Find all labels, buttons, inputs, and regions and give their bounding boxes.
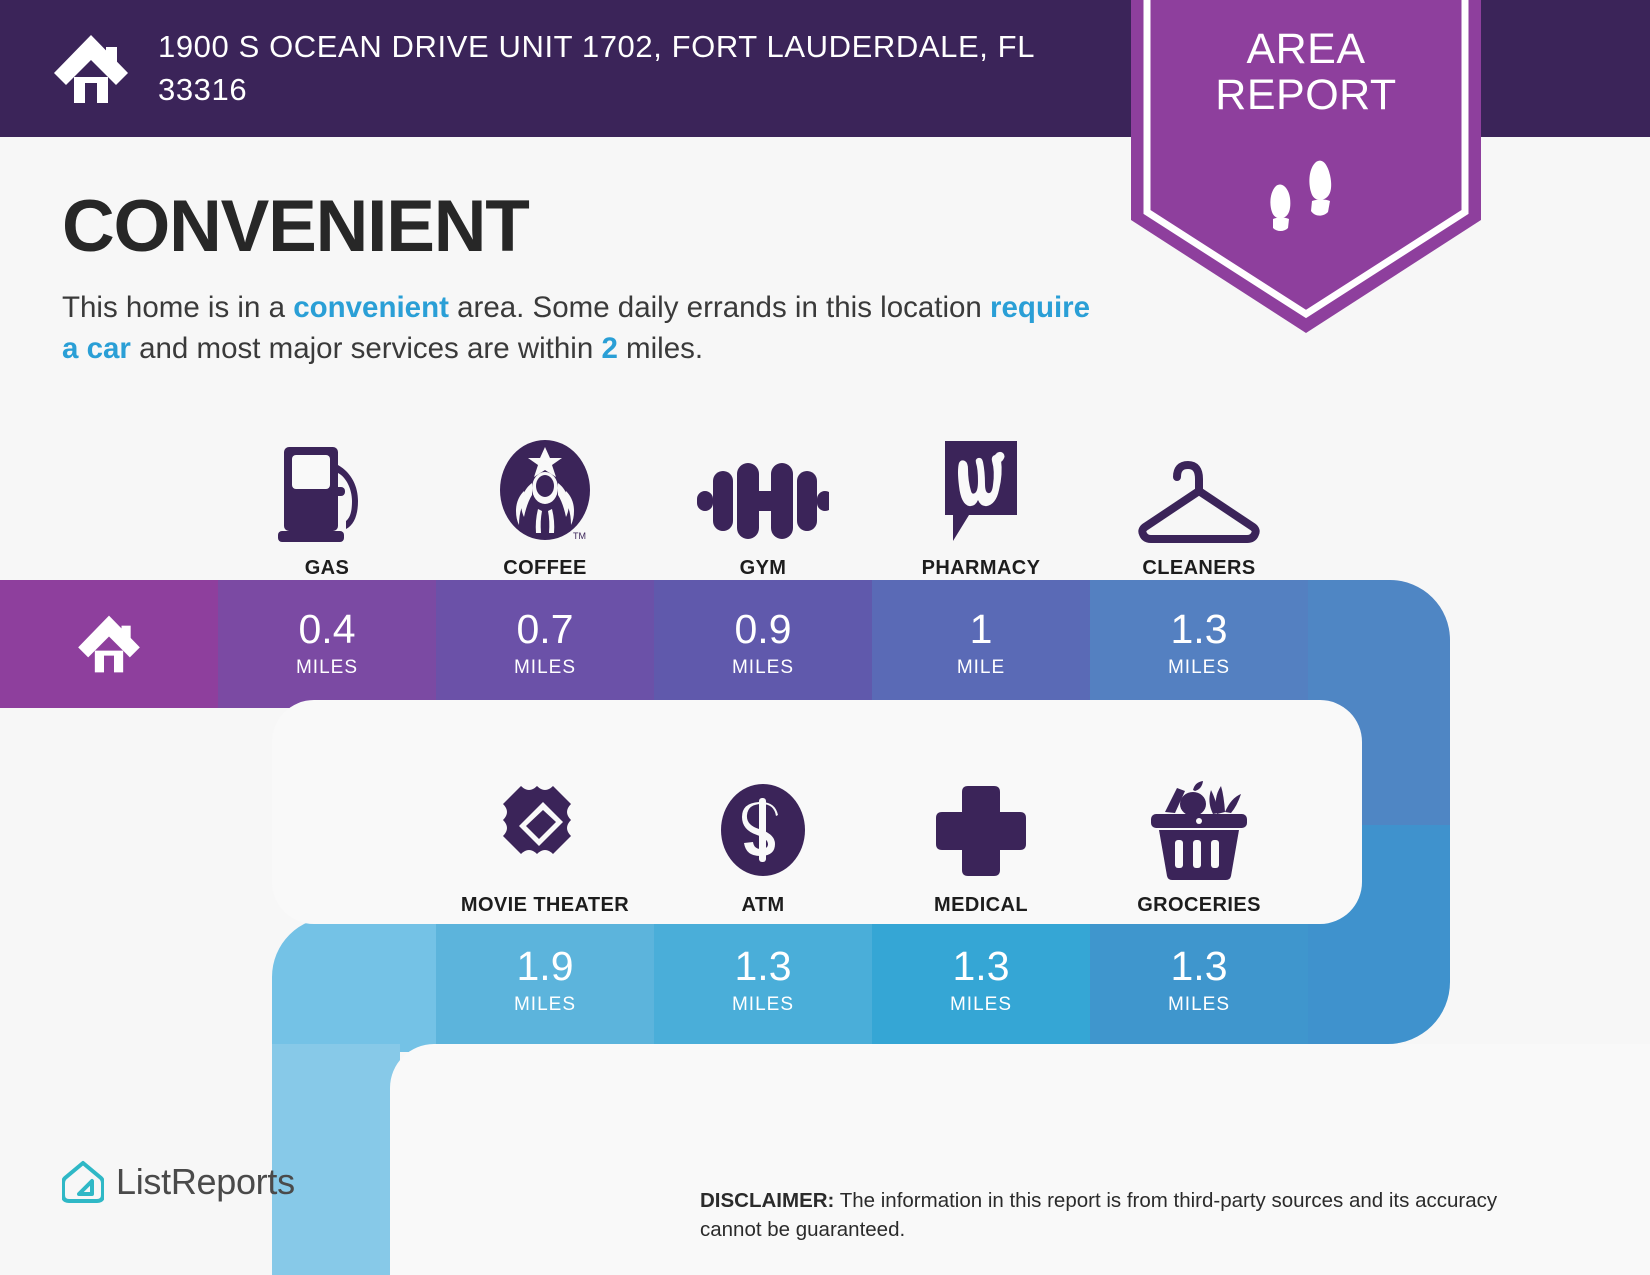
distance-cell-movie-theater: 1.9 MILES [436,917,654,1045]
amenity-gym: GYM [654,415,872,580]
amenity-label: GAS [305,557,350,580]
distance-spacer [272,917,436,1045]
distance-unit: MILES [296,657,358,679]
distance-cell-gym: 0.9 MILES [654,580,872,708]
distance-unit: MILES [514,994,576,1016]
distance-unit: MILES [732,994,794,1016]
disclaimer: DISCLAIMER: The information in this repo… [700,1186,1510,1244]
badge-title: AREA REPORT [1131,26,1481,119]
distance-cell-atm: 1.3 MILES [654,917,872,1045]
distance-unit: MILES [514,657,576,679]
badge-line-2: REPORT [1131,72,1481,118]
distance-cell-medical: 1.3 MILES [872,917,1090,1045]
amenity-movie-theater: MOVIE THEATER [436,752,654,917]
amenity-label: PHARMACY [922,557,1041,580]
hanger-icon [1135,435,1263,543]
dollar-circle-icon [714,772,812,880]
distance-value: 1.3 [735,946,792,987]
distance-unit: MILES [950,994,1012,1016]
home-marker-cell [0,580,218,708]
distance-value: 1.3 [1171,946,1228,987]
listreports-house-icon [62,1160,104,1204]
distance-unit: MILES [1168,657,1230,679]
amenity-label: MEDICAL [934,894,1028,917]
property-address: 1900 S OCEAN DRIVE UNIT 1702, FORT LAUDE… [158,26,1068,110]
listreports-logo: ListReports [62,1160,295,1204]
amenity-label: ATM [741,894,784,917]
home-icon [52,33,130,105]
amenity-cleaners: CLEANERS [1090,415,1308,580]
disclaimer-label: DISCLAIMER: [700,1189,834,1212]
distance-value: 0.4 [299,609,356,650]
svg-text:TM: TM [573,531,586,541]
badge-line-1: AREA [1131,26,1481,72]
distance-row-1: 0.4 MILES 0.7 MILES 0.9 MILES 1 MILE 1.3… [0,580,1308,708]
distance-unit: MILE [957,657,1005,679]
amenity-gas: GAS [218,415,436,580]
amenity-label: CLEANERS [1142,557,1255,580]
amenity-pharmacy: PHARMACY [872,415,1090,580]
distance-cell-groceries: 1.3 MILES [1090,917,1308,1045]
home-icon [76,614,142,674]
distance-value: 1.3 [1171,609,1228,650]
medical-cross-icon [932,772,1030,880]
amenity-medical: MEDICAL [872,752,1090,917]
distance-cell-pharmacy: 1 MILE [872,580,1090,708]
distance-unit: MILES [732,657,794,679]
distance-value: 1 [970,609,993,650]
amenity-label: GYM [740,557,787,580]
distance-value: 0.7 [517,609,574,650]
starbucks-icon: TM [494,435,596,543]
amenity-atm: ATM [654,752,872,917]
movie-ticket-icon [495,772,595,880]
footprints-icon [1266,156,1346,240]
amenity-coffee: TM COFFEE [436,415,654,580]
distance-value: 1.9 [517,946,574,987]
amenity-label: GROCERIES [1137,894,1261,917]
gas-pump-icon [276,435,378,543]
distance-unit: MILES [1168,994,1230,1016]
distance-cell-gas: 0.4 MILES [218,580,436,708]
dumbbell-icon [697,435,829,543]
amenity-icon-row-1: GAS TM COFFEE [218,415,1308,580]
distance-value: 0.9 [735,609,792,650]
amenity-label: MOVIE THEATER [461,894,629,917]
listreports-logo-text: ListReports [116,1161,295,1203]
grocery-basket-icon [1147,772,1251,880]
distance-row-2: 1.9 MILES 1.3 MILES 1.3 MILES 1.3 MILES [272,917,1308,1045]
area-report-badge: AREA REPORT [1131,0,1481,333]
distance-cell-coffee: 0.7 MILES [436,580,654,708]
distance-value: 1.3 [953,946,1010,987]
amenity-icon-row-2: MOVIE THEATER ATM MEDICAL [436,752,1308,917]
amenity-label: COFFEE [503,557,587,580]
walgreens-icon [939,435,1023,543]
amenity-groceries: GROCERIES [1090,752,1308,917]
distance-cell-cleaners: 1.3 MILES [1090,580,1308,708]
